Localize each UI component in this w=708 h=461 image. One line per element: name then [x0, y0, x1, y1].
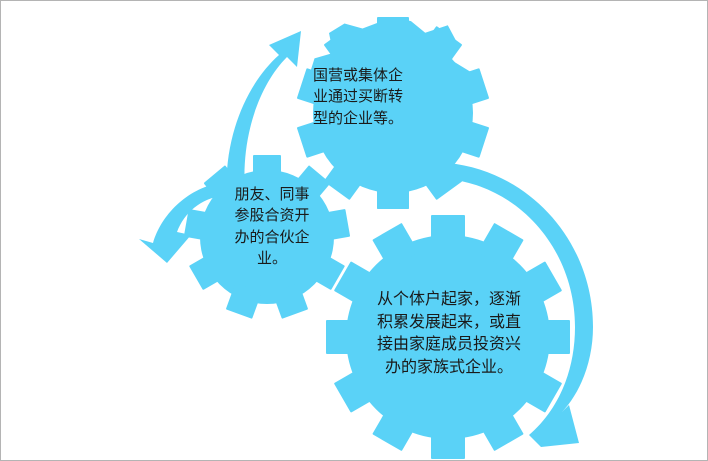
gear-middle-label: 朋友、同事 参股合资开 办的合伙企 业。: [217, 184, 327, 269]
diagram-canvas: 国营或集体企 业通过买断转 型的企业等。 朋友、同事 参股合资开 办的合伙企 业…: [0, 0, 708, 461]
gear-top-label: 国营或集体企 业通过买断转 型的企业等。: [313, 65, 449, 129]
gear-large-label: 从个体户起家，逐渐 积累发展起来，或直 接由家庭成员投资兴 办的家族式企业。: [357, 288, 541, 379]
